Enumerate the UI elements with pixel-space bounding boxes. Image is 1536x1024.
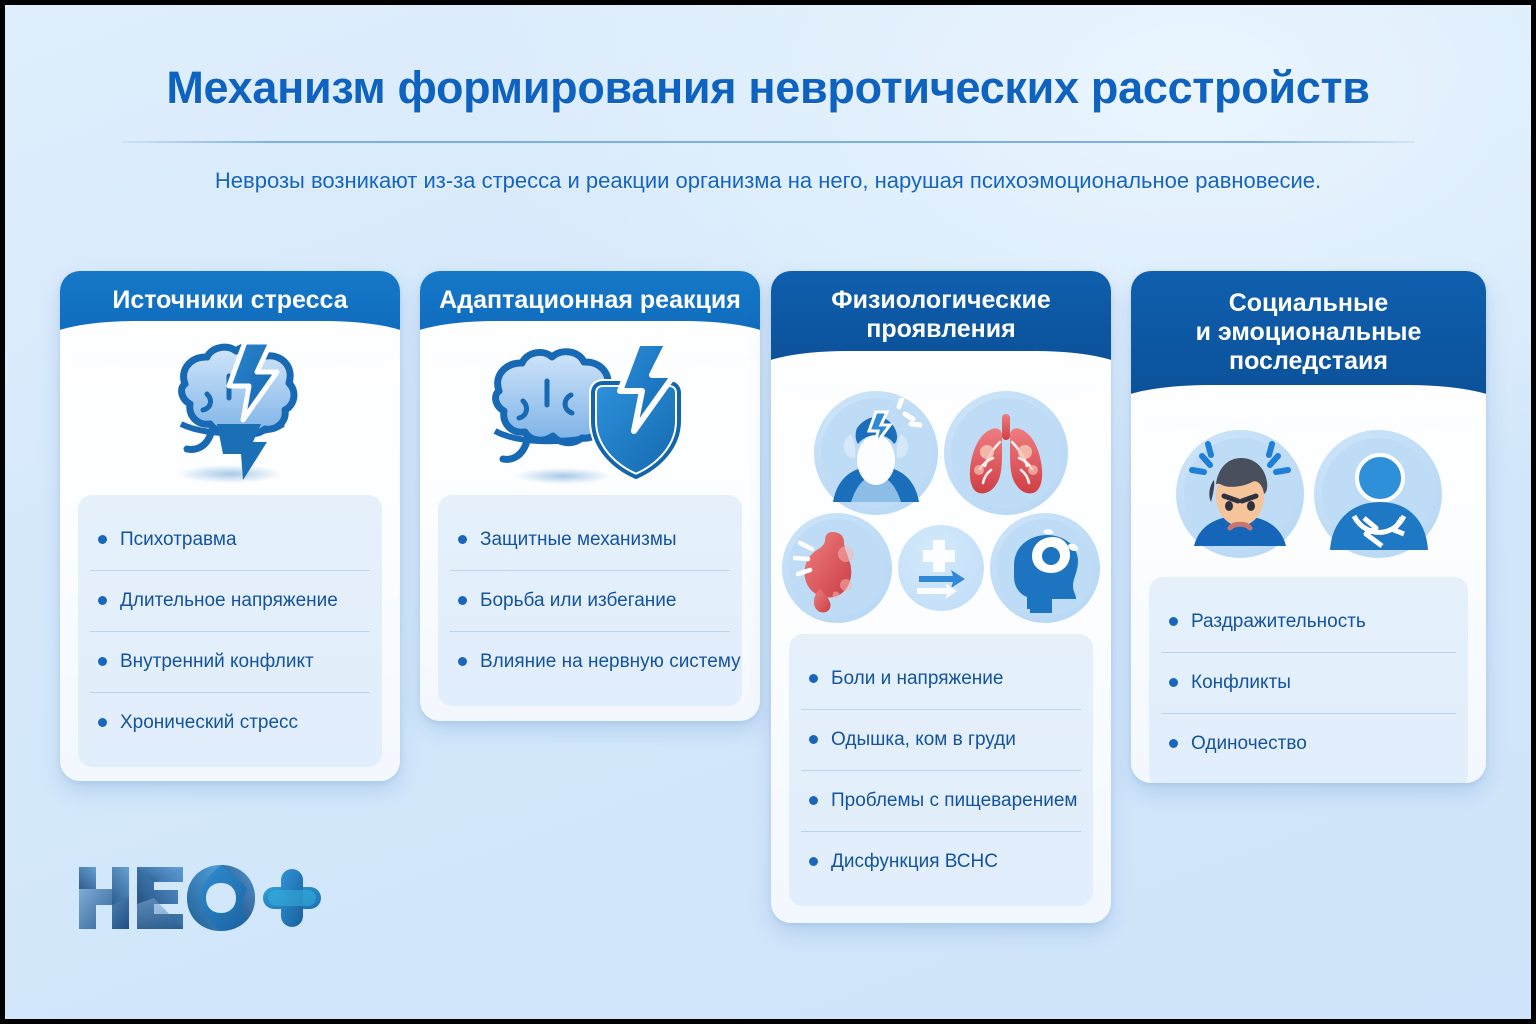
stomach-icon xyxy=(782,513,892,623)
bullet-label: Боли и напряжение xyxy=(831,668,1003,690)
bullet-label: Длительное напряжение xyxy=(120,590,338,612)
bullet-label: Одышка, ком в груди xyxy=(831,729,1016,751)
logo-neo-plus[interactable]: НЕО+ xyxy=(73,859,323,937)
card-3-title: Физиологические проявления xyxy=(831,286,1051,352)
list-item[interactable]: Внутренний конфликт xyxy=(78,631,382,692)
card-4-header: Социальные и эмоциональные последстаия xyxy=(1131,271,1486,401)
list-item[interactable]: Дисфункция ВСНС xyxy=(789,831,1093,892)
angry-face-icon xyxy=(1176,430,1304,558)
card-4-title-line-2: и эмоциональные xyxy=(1196,318,1422,346)
list-item[interactable]: Проблемы с пищеварением xyxy=(789,770,1093,831)
bullet-dot-icon xyxy=(458,596,467,605)
list-item[interactable]: Одышка, ком в груди xyxy=(789,709,1093,770)
bullet-dot-icon xyxy=(1169,617,1178,626)
lonely-person-icon xyxy=(1314,430,1442,558)
card-2-artwork xyxy=(420,337,760,487)
bullet-label: Психотравма xyxy=(120,529,237,551)
card-adaptacionnaya-reakciya[interactable]: Адаптационная реакция xyxy=(420,271,760,721)
bullet-dot-icon xyxy=(98,535,107,544)
brain-lightning-icon xyxy=(125,338,335,486)
card-4-bullets: Раздражительность Конфликты Одиночество xyxy=(1149,577,1468,783)
card-4-artwork xyxy=(1131,401,1486,571)
card-fiziologicheskie-proyavleniya[interactable]: Физиологические проявления xyxy=(771,271,1111,923)
list-item[interactable]: Боли и напряжение xyxy=(789,648,1093,709)
bullet-dot-icon xyxy=(98,657,107,666)
list-item[interactable]: Защитные механизмы xyxy=(438,509,742,570)
lungs-icon xyxy=(944,391,1068,515)
head-nervous-system-icon xyxy=(990,513,1100,623)
card-3-artwork xyxy=(771,367,1111,632)
card-socialnye-i-emocionalnye-posledstaiya[interactable]: Социальные и эмоциональные последстаия xyxy=(1131,271,1486,783)
list-item[interactable]: Борьба или избегание xyxy=(438,570,742,631)
headache-person-icon xyxy=(814,391,938,515)
bullet-dot-icon xyxy=(98,718,107,727)
bullet-dot-icon xyxy=(809,735,818,744)
bullet-label: Влияние на нервную систему xyxy=(480,651,741,673)
list-item[interactable]: Длительное напряжение xyxy=(78,570,382,631)
list-item[interactable]: Конфликты xyxy=(1149,652,1468,713)
arrows-transition-icon xyxy=(898,525,984,611)
card-3-header: Физиологические проявления xyxy=(771,271,1111,367)
card-1-artwork xyxy=(60,337,400,487)
bullet-dot-icon xyxy=(98,596,107,605)
infographic-poster: Механизм формирования невротических расс… xyxy=(5,5,1531,1019)
card-2-title: Адаптационная реакция xyxy=(439,286,741,323)
card-2-bullets: Защитные механизмы Борьба или избегание … xyxy=(438,495,742,706)
bullet-label: Конфликты xyxy=(1191,672,1291,694)
bullet-dot-icon xyxy=(809,796,818,805)
card-3-icon-row-2 xyxy=(782,513,1100,623)
card-3-icon-row-1 xyxy=(814,391,1068,515)
bullet-dot-icon xyxy=(809,857,818,866)
bullet-label: Одиночество xyxy=(1191,733,1307,755)
list-item[interactable]: Раздражительность xyxy=(1149,591,1468,652)
bullet-label: Проблемы с пищеварением xyxy=(831,790,1077,812)
bullet-label: Внутренний конфликт xyxy=(120,651,314,673)
bullet-label: Дисфункция ВСНС xyxy=(831,851,998,873)
logo-neo-plus-mark xyxy=(73,859,323,937)
list-item[interactable]: Одиночество xyxy=(1149,713,1468,774)
card-4-title-line-3: последстаия xyxy=(1229,347,1388,375)
bullet-dot-icon xyxy=(458,657,467,666)
card-4-title-line-1: Социальные xyxy=(1229,289,1389,317)
list-item[interactable]: Психотравма xyxy=(78,509,382,570)
list-item[interactable]: Влияние на нервную систему xyxy=(438,631,742,692)
card-3-title-line-1: Физиологические xyxy=(831,286,1051,314)
card-2-header: Адаптационная реакция xyxy=(420,271,760,337)
bullet-dot-icon xyxy=(458,535,467,544)
bullet-label: Защитные механизмы xyxy=(480,529,677,551)
card-3-title-line-2: проявления xyxy=(866,315,1015,343)
list-item[interactable]: Хронический стресс xyxy=(78,692,382,753)
card-istochniki-stressa[interactable]: Источники стресса xyxy=(60,271,400,781)
card-1-bullets: Психотравма Длительное напряжение Внутре… xyxy=(78,495,382,767)
card-1-header: Источники стресса xyxy=(60,271,400,337)
bullet-dot-icon xyxy=(809,674,818,683)
bullet-label: Раздражительность xyxy=(1191,611,1366,633)
card-1-title: Источники стресса xyxy=(112,286,347,323)
card-4-title: Социальные и эмоциональные последстаия xyxy=(1196,289,1422,384)
brain-shield-lightning-icon xyxy=(465,337,715,487)
bullet-label: Хронический стресс xyxy=(120,712,298,734)
card-4-icon-row xyxy=(1176,430,1442,558)
bullet-dot-icon xyxy=(1169,678,1178,687)
bullet-label: Борьба или избегание xyxy=(480,590,677,612)
bullet-dot-icon xyxy=(1169,739,1178,748)
card-3-bullets: Боли и напряжение Одышка, ком в груди Пр… xyxy=(789,634,1093,906)
